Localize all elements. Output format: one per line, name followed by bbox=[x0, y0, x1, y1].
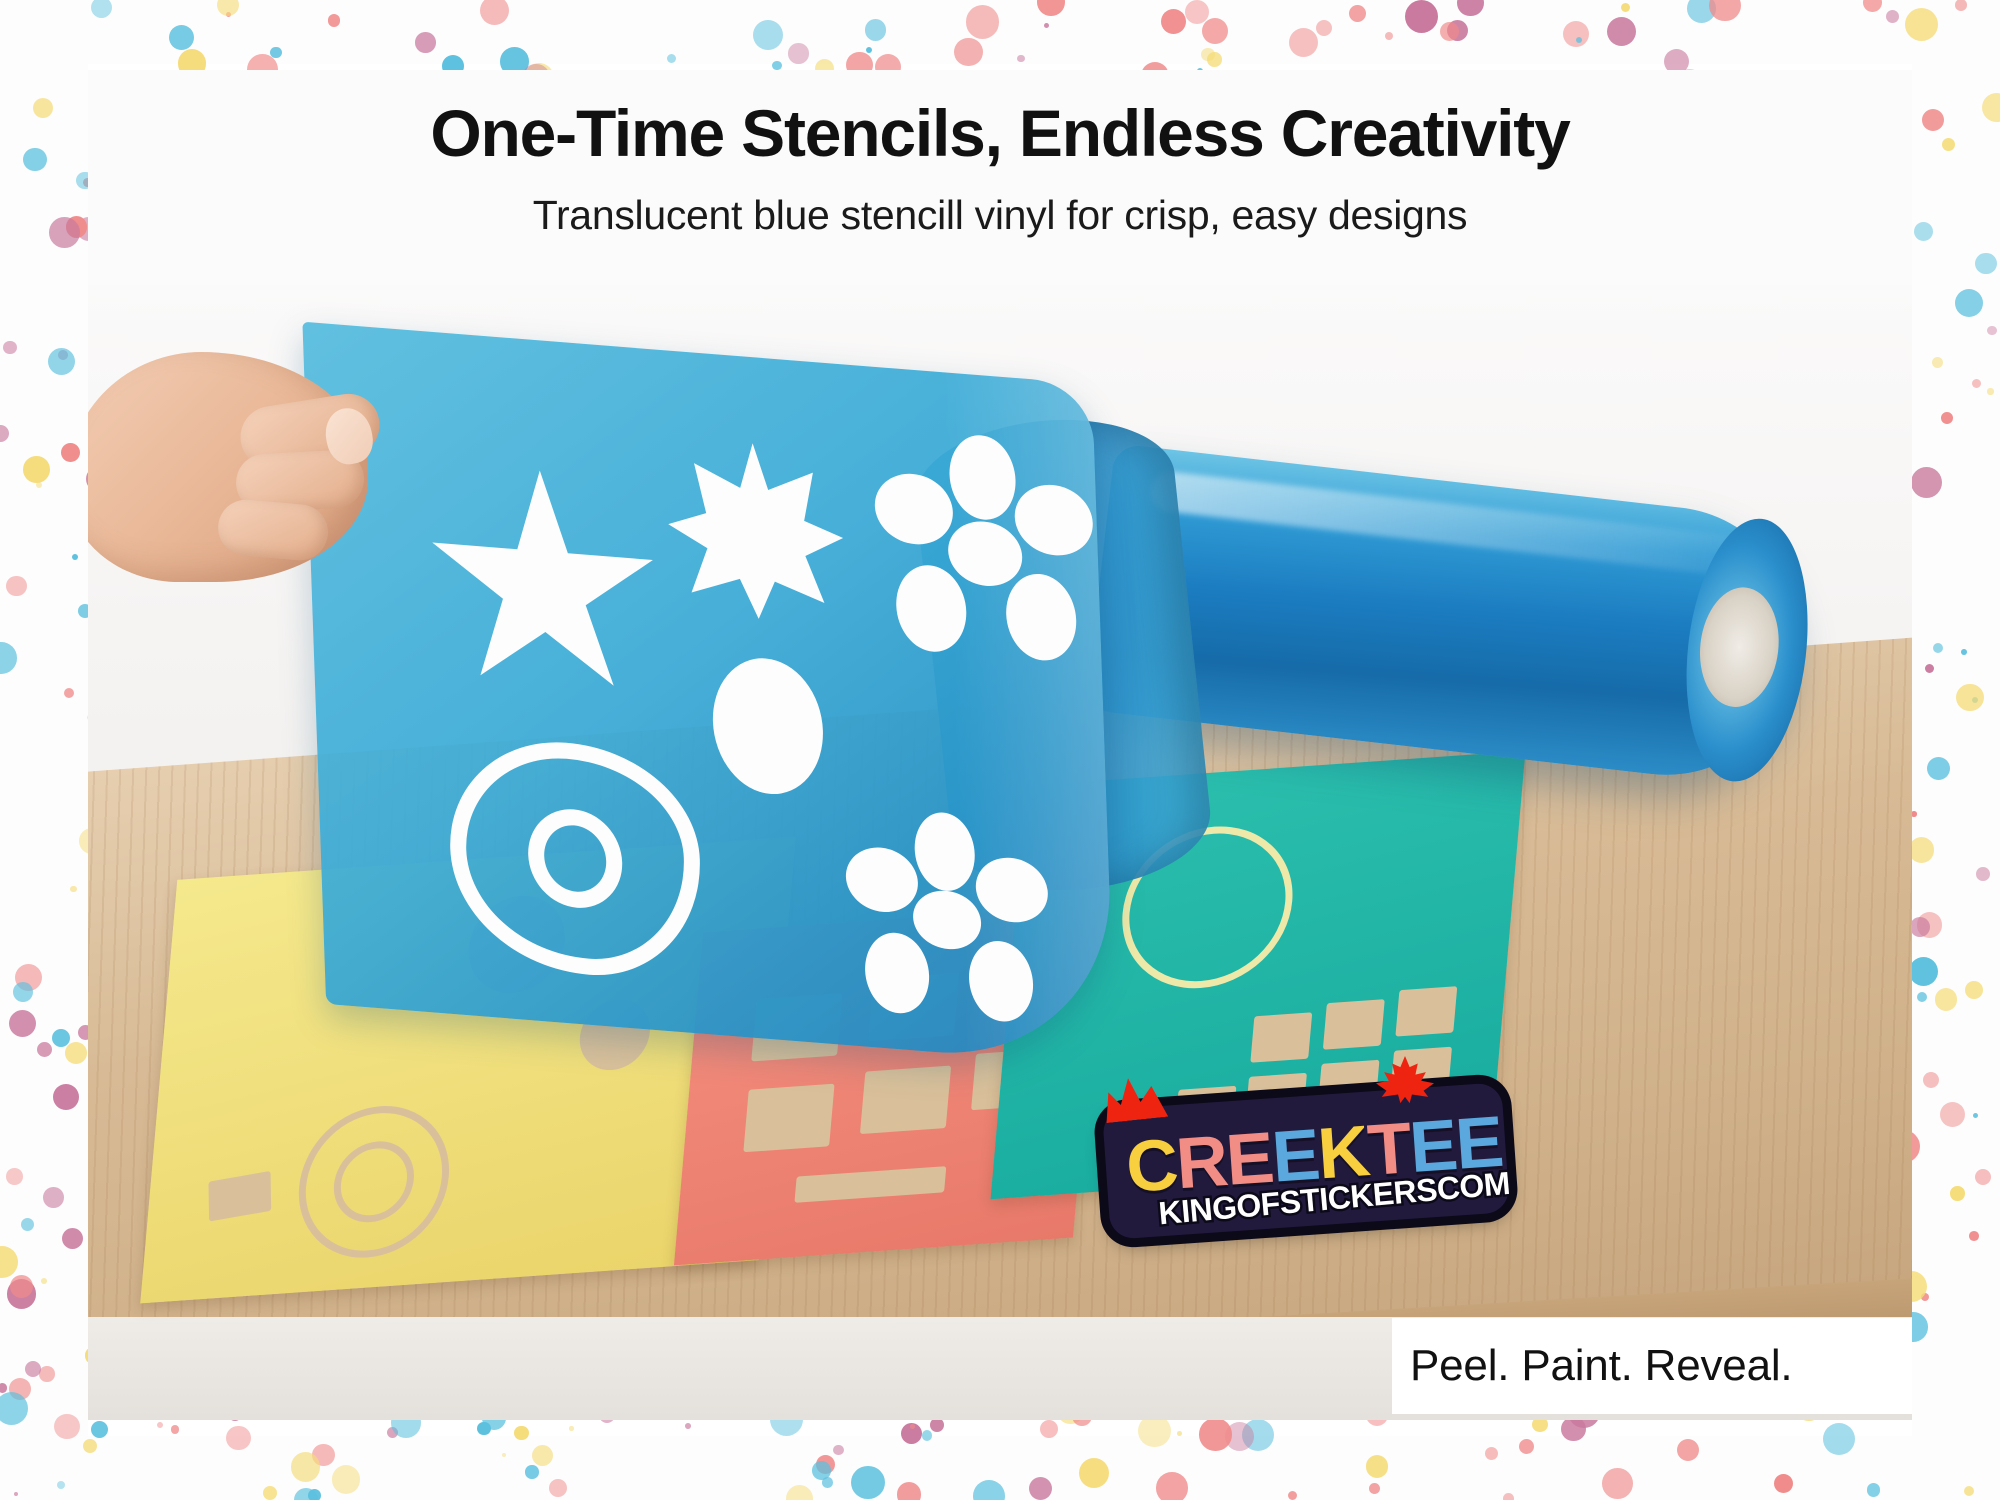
confetti-dot bbox=[41, 1278, 47, 1284]
confetti-dot bbox=[1079, 1458, 1109, 1488]
blue-translucent-stencil-sheet bbox=[302, 322, 1115, 1067]
confetti-dot bbox=[291, 1452, 320, 1481]
confetti-dot bbox=[1927, 757, 1950, 780]
confetti-dot bbox=[851, 1466, 885, 1500]
confetti-dot bbox=[1964, 1486, 1974, 1496]
confetti-dot bbox=[1921, 1293, 1929, 1301]
confetti-dot bbox=[294, 1488, 318, 1500]
confetti-dot bbox=[36, 482, 42, 488]
confetti-dot bbox=[1925, 664, 1934, 673]
confetti-dot bbox=[1987, 388, 1993, 394]
confetti-dot bbox=[25, 1361, 41, 1377]
confetti-dot bbox=[1973, 1113, 1978, 1118]
petal bbox=[948, 433, 1017, 522]
confetti-dot bbox=[13, 982, 34, 1003]
confetti-dot bbox=[43, 1187, 64, 1208]
daisy-cutout bbox=[864, 426, 1103, 695]
confetti-dot bbox=[3, 341, 16, 354]
confetti-dot bbox=[1709, 0, 1741, 21]
confetti-dot bbox=[1935, 988, 1957, 1010]
oval-cutout bbox=[711, 654, 826, 798]
confetti-dot bbox=[897, 1482, 922, 1500]
petal bbox=[975, 855, 1049, 925]
confetti-dot bbox=[1017, 55, 1024, 62]
confetti-dot bbox=[1911, 467, 1943, 499]
confetti-dot bbox=[1917, 912, 1943, 938]
confetti-dot bbox=[1774, 1474, 1794, 1494]
confetti-dot bbox=[53, 1084, 79, 1110]
confetti-dot bbox=[1156, 1472, 1187, 1500]
confetti-dot bbox=[480, 0, 509, 25]
confetti-dot bbox=[23, 148, 47, 172]
confetti-dot bbox=[1932, 357, 1943, 368]
confetti-dot bbox=[9, 1378, 31, 1400]
product-photo bbox=[88, 270, 1912, 1420]
page-title: One-Time Stencils, Endless Creativity bbox=[88, 70, 1912, 166]
confetti-dot bbox=[1940, 1102, 1965, 1127]
confetti-dot bbox=[866, 47, 872, 53]
square-cutout bbox=[1395, 986, 1457, 1036]
confetti-dot bbox=[1917, 992, 1927, 1002]
confetti-dot bbox=[52, 1029, 70, 1047]
petal bbox=[845, 845, 919, 915]
petal-cutout bbox=[208, 1171, 271, 1222]
confetti-dot bbox=[1910, 917, 1930, 937]
confetti-dot bbox=[1503, 1493, 1514, 1500]
bar-cutout bbox=[794, 1166, 946, 1203]
confetti-dot bbox=[33, 98, 53, 118]
confetti-dot bbox=[1961, 649, 1967, 655]
confetti-dot bbox=[1677, 1439, 1699, 1461]
confetti-dot bbox=[1965, 981, 1983, 999]
confetti-dot bbox=[1440, 22, 1459, 41]
confetti-dot bbox=[37, 1042, 52, 1057]
petal bbox=[1014, 482, 1094, 558]
confetti-dot bbox=[1607, 17, 1636, 46]
confetti-dot bbox=[65, 1042, 87, 1064]
finger bbox=[216, 497, 330, 562]
confetti-dot bbox=[1942, 138, 1955, 151]
confetti-dot bbox=[1185, 0, 1209, 24]
confetti-dot bbox=[1457, 0, 1483, 16]
hand-peeling-stencil bbox=[88, 312, 398, 602]
confetti-dot bbox=[1975, 1169, 1991, 1185]
confetti-dot bbox=[1044, 23, 1049, 28]
promo-banner: One-Time Stencils, Endless Creativity Tr… bbox=[0, 0, 2000, 1500]
confetti-dot bbox=[1941, 412, 1953, 424]
confetti-dot bbox=[525, 1465, 538, 1478]
confetti-dot bbox=[21, 1218, 34, 1231]
confetti-dot bbox=[1316, 20, 1332, 36]
confetti-dot bbox=[1950, 1186, 1965, 1201]
confetti-dot bbox=[332, 1465, 361, 1494]
confetti-dot bbox=[23, 456, 50, 483]
confetti-dot bbox=[169, 25, 194, 50]
confetti-dot bbox=[502, 1453, 506, 1457]
confetti-dot bbox=[1975, 253, 1997, 275]
confetti-dot bbox=[753, 20, 783, 50]
tagline-text: Peel. Paint. Reveal. bbox=[1392, 1341, 1792, 1391]
seven-point-star-cutout bbox=[665, 436, 846, 625]
confetti-dot bbox=[954, 38, 983, 67]
confetti-dot bbox=[1923, 1072, 1939, 1088]
confetti-dot bbox=[1029, 1477, 1052, 1500]
petal bbox=[968, 939, 1035, 1024]
confetti-dot bbox=[10, 1275, 33, 1298]
confetti-dot bbox=[0, 1246, 18, 1278]
confetti-dot bbox=[1956, 684, 1983, 711]
confetti-dot bbox=[865, 19, 887, 41]
confetti-dot bbox=[1905, 8, 1938, 41]
square-cutout bbox=[743, 1084, 834, 1153]
confetti-dot bbox=[1161, 9, 1186, 34]
confetti-dot bbox=[1972, 697, 1978, 703]
flower-center bbox=[947, 519, 1023, 589]
confetti-dot bbox=[0, 1383, 7, 1392]
confetti-dot bbox=[1289, 28, 1318, 57]
confetti-dot bbox=[1563, 21, 1589, 47]
confetti-dot bbox=[1969, 1231, 1979, 1241]
confetti-dot bbox=[15, 964, 42, 991]
confetti-dot bbox=[1621, 3, 1630, 12]
confetti-dot bbox=[270, 47, 281, 58]
confetti-dot bbox=[1955, 0, 1967, 11]
confetti-dot bbox=[786, 1485, 813, 1500]
confetti-dot bbox=[54, 1414, 79, 1439]
brand-logo[interactable]: CREEKTEE KINGOFSTICKERSCOM bbox=[1088, 1052, 1528, 1252]
confetti-dot bbox=[833, 1445, 844, 1456]
confetti-dot bbox=[1447, 20, 1468, 41]
confetti-dot bbox=[1349, 5, 1366, 22]
confetti-dot bbox=[415, 32, 436, 53]
confetti-dot bbox=[1982, 93, 2000, 122]
confetti-dot bbox=[788, 43, 808, 63]
confetti-dot bbox=[667, 54, 677, 64]
confetti-dot bbox=[0, 642, 17, 674]
confetti-dot bbox=[14, 1492, 18, 1496]
confetti-dot bbox=[226, 12, 232, 18]
confetti-dot bbox=[812, 1461, 831, 1480]
confetti-dot bbox=[816, 1455, 835, 1474]
confetti-dot bbox=[64, 688, 74, 698]
confetti-dot bbox=[48, 348, 75, 375]
confetti-dot bbox=[1863, 0, 1882, 12]
star-cutout bbox=[425, 461, 663, 710]
confetti-dot bbox=[49, 217, 80, 248]
confetti-dot bbox=[57, 1481, 65, 1489]
confetti-dot bbox=[9, 1010, 36, 1037]
confetti-dot bbox=[973, 1480, 1005, 1500]
lower-daisy-cutout bbox=[837, 804, 1055, 1051]
confetti-dot bbox=[1909, 957, 1938, 986]
scalloped-flower-cutout bbox=[446, 733, 704, 984]
confetti-dot bbox=[328, 14, 340, 26]
confetti-dot bbox=[1288, 1491, 1297, 1500]
confetti-dot bbox=[1955, 289, 1983, 317]
confetti-dot bbox=[1909, 837, 1935, 863]
confetti-dot bbox=[1976, 867, 1990, 881]
confetti-dot bbox=[6, 1168, 23, 1185]
confetti-dot bbox=[549, 1479, 567, 1497]
petal bbox=[913, 810, 976, 893]
confetti-dot bbox=[7, 1279, 37, 1309]
confetti-dot bbox=[1687, 0, 1716, 23]
confetti-dot bbox=[217, 0, 239, 16]
petal bbox=[895, 563, 968, 655]
confetti-dot bbox=[1972, 379, 1981, 388]
confetti-dot bbox=[66, 216, 88, 238]
confetti-dot bbox=[0, 1392, 28, 1425]
square-cutout bbox=[860, 1066, 951, 1135]
confetti-dot bbox=[263, 1486, 277, 1500]
confetti-dot bbox=[62, 1228, 84, 1250]
confetti-dot bbox=[1914, 222, 1933, 241]
confetti-dot bbox=[312, 1444, 334, 1466]
confetti-dot bbox=[1405, 0, 1438, 33]
confetti-dot bbox=[532, 1445, 553, 1466]
confetti-dot bbox=[1201, 48, 1214, 61]
petal bbox=[874, 471, 954, 547]
confetti-dot bbox=[308, 1489, 321, 1500]
confetti-dot bbox=[966, 5, 1000, 39]
confetti-dot bbox=[1202, 18, 1228, 44]
tagline-block: Peel. Paint. Reveal. bbox=[1392, 1318, 1912, 1414]
confetti-dot bbox=[1867, 1483, 1881, 1497]
confetti-dot bbox=[1987, 326, 1996, 335]
headline-block: One-Time Stencils, Endless Creativity Tr… bbox=[88, 70, 1912, 285]
confetti-dot bbox=[1485, 1447, 1498, 1460]
confetti-dot bbox=[1576, 37, 1582, 43]
confetti-dot bbox=[61, 443, 80, 462]
flower-center bbox=[912, 888, 982, 952]
petal bbox=[864, 930, 931, 1015]
confetti-dot bbox=[1366, 1455, 1388, 1477]
confetti-dot bbox=[1922, 109, 1944, 131]
confetti-dot bbox=[1886, 10, 1900, 24]
confetti-dot bbox=[1037, 0, 1065, 16]
confetti-dot bbox=[72, 554, 78, 560]
confetti-dot bbox=[1933, 643, 1943, 653]
confetti-dot bbox=[1369, 1483, 1380, 1494]
confetti-dot bbox=[58, 350, 68, 360]
confetti-dot bbox=[39, 1366, 54, 1381]
confetti-dot bbox=[1602, 1468, 1633, 1499]
page-subtitle: Translucent blue stencill vinyl for cris… bbox=[88, 192, 1912, 239]
confetti-dot bbox=[91, 0, 112, 18]
confetti-dot bbox=[83, 1439, 97, 1453]
petal bbox=[1005, 571, 1078, 663]
confetti-dot bbox=[822, 1477, 833, 1488]
square-cutout bbox=[1323, 999, 1385, 1049]
confetti-dot bbox=[0, 425, 9, 442]
confetti-dot bbox=[6, 576, 27, 597]
confetti-dot bbox=[1385, 32, 1394, 41]
confetti-dot bbox=[70, 886, 76, 892]
confetti-dot bbox=[1519, 1439, 1534, 1454]
confetti-dot bbox=[1911, 811, 1917, 817]
